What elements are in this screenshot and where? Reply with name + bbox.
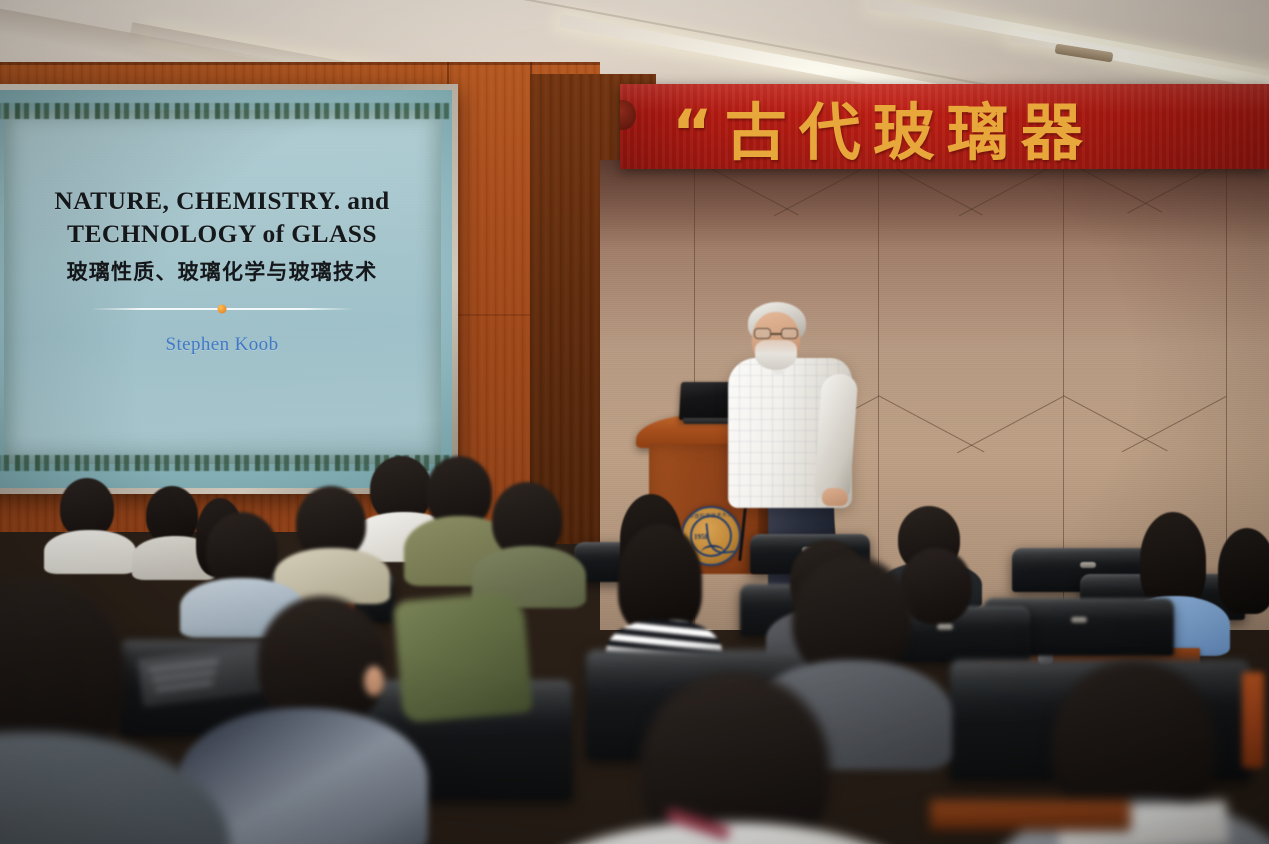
chevron-low-2b [957, 396, 1063, 453]
chevron-low-3b [1122, 396, 1227, 452]
chevron-low-2a [878, 395, 984, 452]
speaker-hand [822, 488, 848, 506]
green-jacket-on-seat [393, 591, 533, 724]
speaker-glasses-icon [754, 328, 798, 339]
slide-accent-dot-icon [218, 305, 227, 314]
event-banner: “古代玻璃器 [620, 84, 1269, 169]
slide-content: NATURE, CHEMISTRY. and TECHNOLOGY of GLA… [0, 90, 452, 488]
ear [364, 666, 384, 696]
seat-knob [1071, 617, 1087, 623]
slide-author-name: Stephen Koob [166, 334, 279, 356]
speaker-beard [755, 340, 797, 370]
wood-seam-top [0, 62, 600, 65]
banner-text: “古代玻璃器 [620, 84, 1095, 169]
hair [618, 524, 702, 634]
chevron-low-3a [1063, 395, 1168, 451]
hair [1218, 528, 1269, 614]
slide-title-line-2: TECHNOLOGY of GLASS [67, 217, 377, 250]
lecture-hall-photo: NATURE, CHEMISTRY. and TECHNOLOGY of GLA… [0, 0, 1269, 844]
shoulders [44, 530, 136, 574]
slide-title-chinese: 玻璃性质、玻璃化学与玻璃技术 [67, 256, 378, 286]
seat-knob [937, 624, 953, 630]
projection-screen: NATURE, CHEMISTRY. and TECHNOLOGY of GLA… [0, 84, 458, 494]
slide-title-line-1: NATURE, CHEMISTRY. and [54, 184, 389, 217]
emblem-year: 1958 [694, 533, 708, 541]
seat-knob [1080, 562, 1096, 568]
hair [1140, 512, 1206, 608]
desk-foreground [930, 800, 1130, 830]
slide-divider-rule [93, 308, 351, 310]
head [60, 478, 114, 538]
projected-slide: NATURE, CHEMISTRY. and TECHNOLOGY of GLA… [0, 90, 452, 488]
seat-armrest-2 [1242, 672, 1264, 768]
